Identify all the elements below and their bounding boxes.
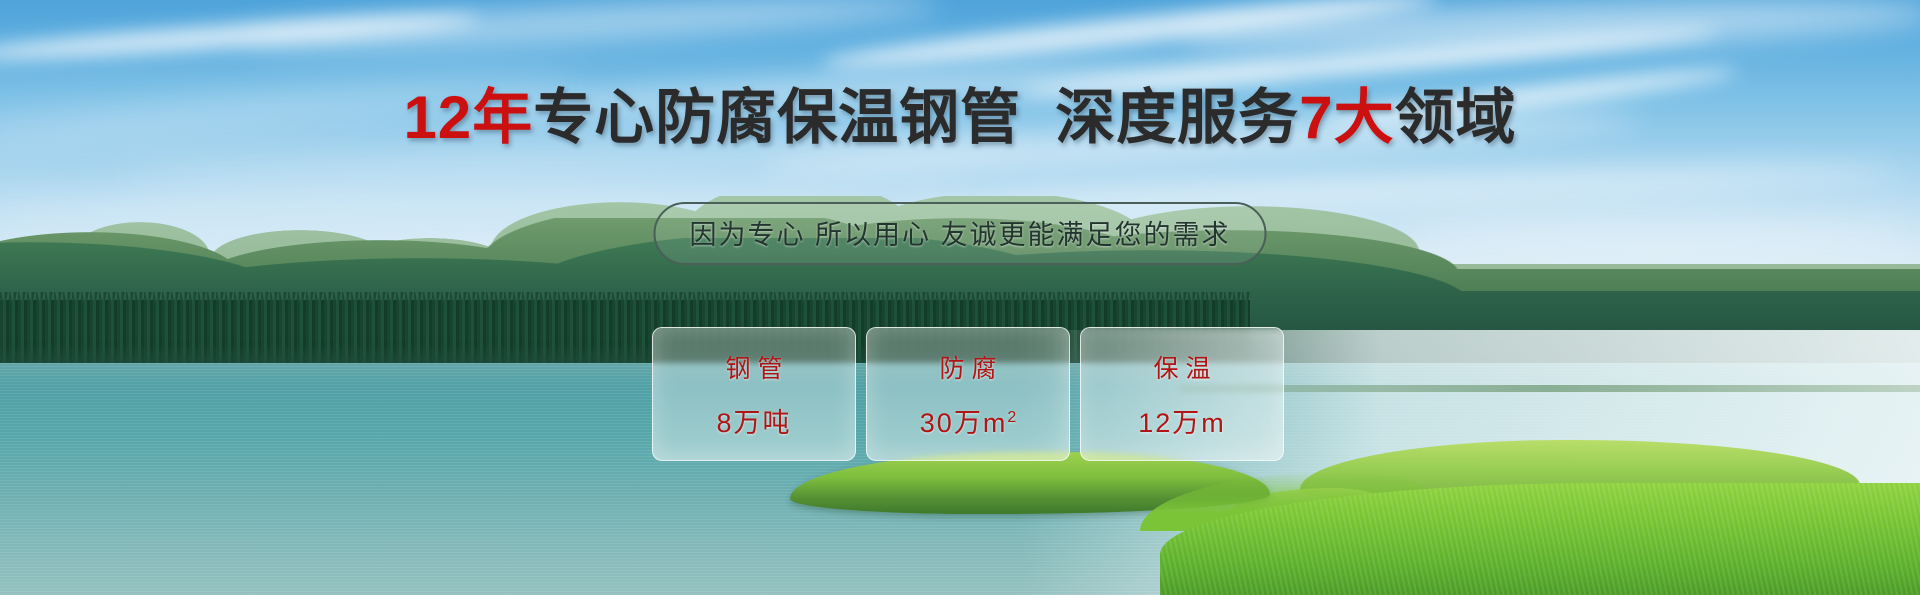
headline-years-unit: 年: [472, 84, 533, 151]
stat-card-insulation[interactable]: 保温 12万m: [1080, 327, 1284, 461]
headline-fields-unit: 大: [1334, 84, 1395, 151]
headline-fields-word: 领域: [1395, 84, 1517, 151]
promo-banner: 12年专心防腐保温钢管深度服务7大领域 因为专心 所以用心 友诚更能满足您的需求…: [0, 0, 1920, 595]
stat-card-value: 12万m: [1138, 401, 1226, 440]
headline-years-number: 12: [403, 84, 472, 151]
stat-card-value-text: 30万m: [920, 408, 1008, 438]
stat-card-steel-pipe[interactable]: 钢管 8万吨: [652, 327, 856, 461]
headline-main-phrase: 专心防腐保温钢管: [533, 84, 1021, 151]
subtitle-pill: 因为专心 所以用心 友诚更能满足您的需求: [653, 202, 1266, 265]
stat-card-anticorrosion[interactable]: 防腐 30万m2: [866, 327, 1070, 461]
far-shoreline: [1180, 385, 1920, 392]
stat-card-title: 防腐: [932, 349, 1003, 385]
stat-card-group: 钢管 8万吨 防腐 30万m2 保温 12万m: [652, 327, 1284, 461]
page-title: 12年专心防腐保温钢管深度服务7大领域: [0, 88, 1920, 148]
stat-card-value-text: 12万m: [1138, 408, 1226, 438]
stat-card-value: 8万吨: [716, 401, 791, 440]
headline-service-phrase: 深度服务: [1055, 84, 1299, 151]
stat-card-value: 30万m2: [920, 401, 1016, 440]
stat-card-value-superscript: 2: [1007, 409, 1016, 426]
stat-card-value-text: 8万吨: [716, 408, 791, 438]
stat-card-title: 保温: [1146, 349, 1217, 385]
headline-fields-number: 7: [1299, 84, 1333, 151]
stat-card-title: 钢管: [718, 349, 789, 385]
